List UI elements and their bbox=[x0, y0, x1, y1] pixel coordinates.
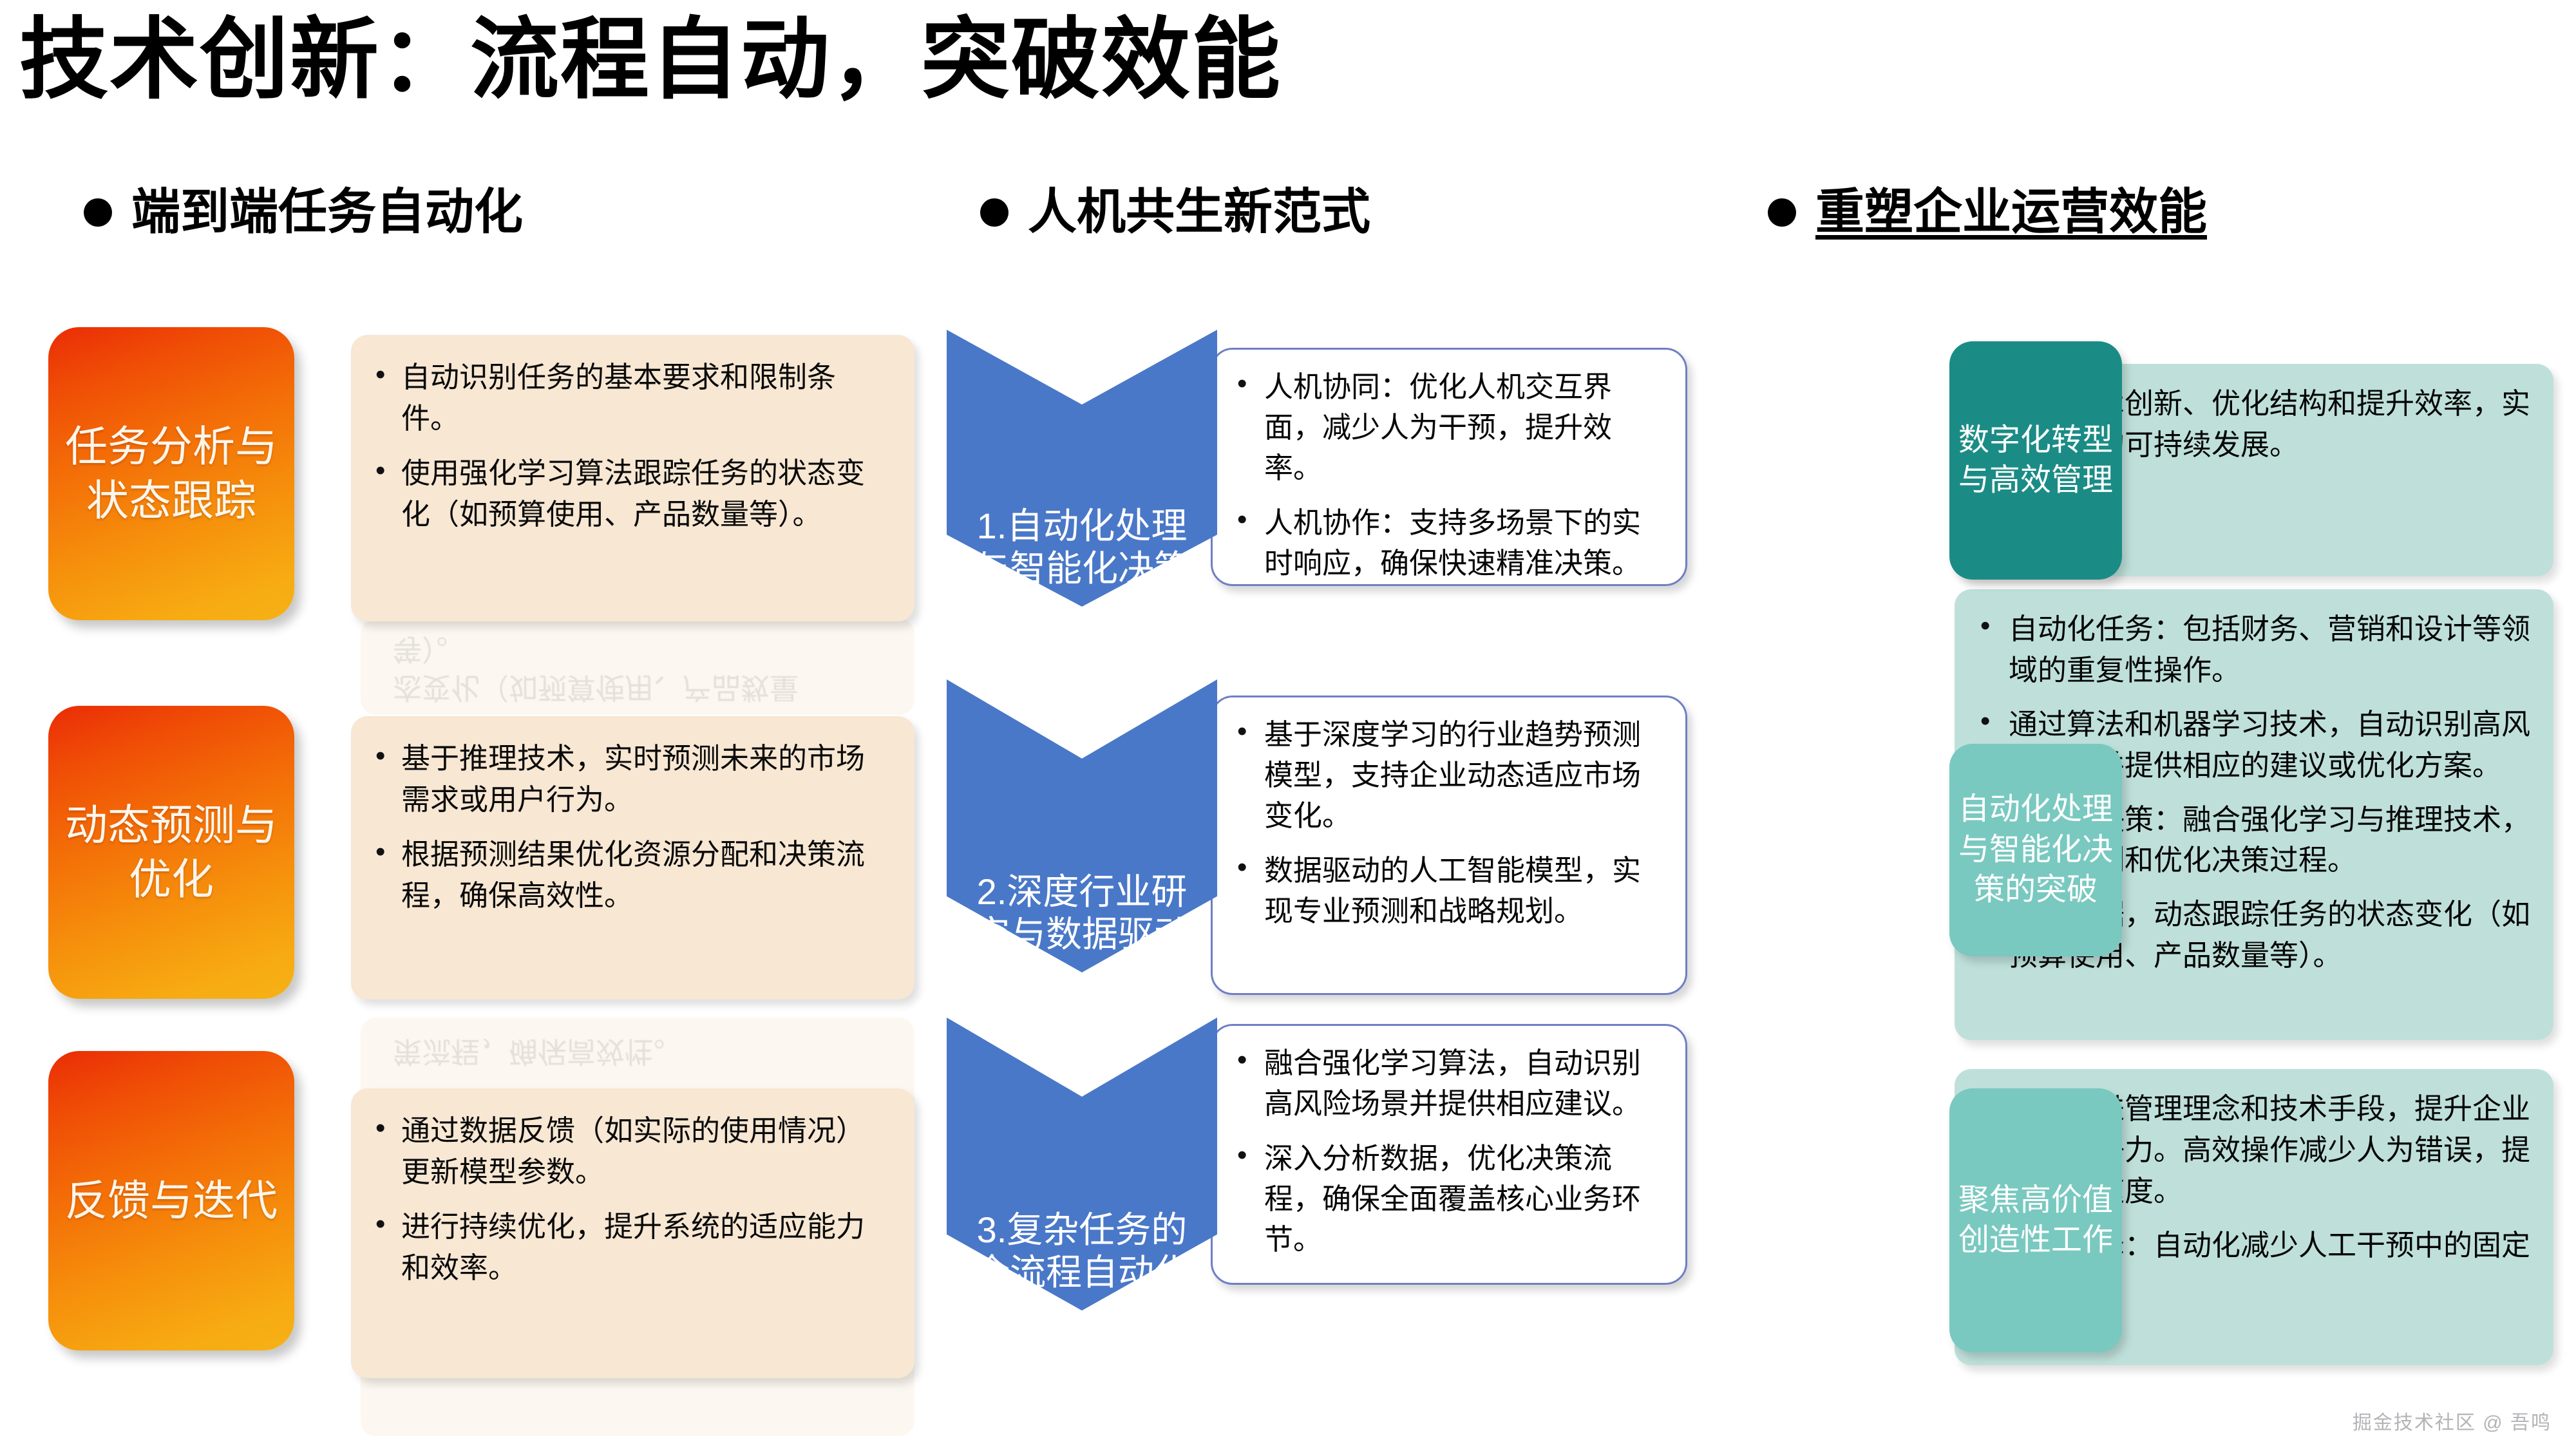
list-item: 通过数据反馈（如实际的使用情况）更新模型参数。 bbox=[401, 1110, 893, 1193]
list-item: 人机协同：优化人机交互界面，减少人为干预，提升效率。 bbox=[1264, 366, 1666, 488]
bullet-list: 通过数据反馈（如实际的使用情况）更新模型参数。 进行持续优化，提升系统的适应能力… bbox=[401, 1110, 893, 1289]
chevron-step-3[interactable]: 3.复杂任务的 全流程自动化 bbox=[947, 1018, 1217, 1311]
section-header-1: 端到端任务自动化 bbox=[84, 188, 523, 237]
list-item: 基于推理技术，实时预测未来的市场需求或用户行为。 bbox=[401, 738, 893, 821]
page-title: 技术创新：流程自动，突破效能 bbox=[19, 9, 1282, 111]
list-item: 自动识别任务的基本要求和限制条件。 bbox=[401, 357, 893, 440]
list-item: 使用强化学习算法跟踪任务的状态变化（如预算使用、产品数量等）。 bbox=[401, 453, 893, 536]
content-panel-orange-3: 通过数据反馈（如实际的使用情况）更新模型参数。 进行持续优化，提升系统的适应能力… bbox=[351, 1088, 914, 1378]
content-panel-orange-1: 自动识别任务的基本要求和限制条件。 使用强化学习算法跟踪任务的状态变化（如预算使… bbox=[351, 335, 914, 621]
bullet-list: 基于深度学习的行业趋势预测模型，支持企业动态适应市场变化。 数据驱动的人工智能模… bbox=[1264, 714, 1666, 931]
content-panel-blue-3: 融合强化学习算法，自动识别高风险场景并提供相应建议。 深入分析数据，优化决策流程… bbox=[1211, 1024, 1687, 1285]
stage-tab-dynamic-prediction[interactable]: 动态预测与优化 bbox=[48, 706, 294, 999]
bullet-list: 基于推理技术，实时预测未来的市场需求或用户行为。 根据预测结果优化资源分配和决策… bbox=[401, 738, 893, 916]
watermark: 掘金技术社区 @ 吾鸣 bbox=[2353, 1406, 2552, 1435]
list-item: 融合强化学习算法，自动识别高风险场景并提供相应建议。 bbox=[1264, 1043, 1666, 1124]
content-panel-blue-1: 人机协同：优化人机交互界面，减少人为干预，提升效率。 人机协作：支持多场景下的实… bbox=[1211, 348, 1687, 586]
chevron-step-1-label: 1.自动化处理 与智能化决策 bbox=[970, 505, 1194, 607]
bullet-list: 自动识别任务的基本要求和限制条件。 使用强化学习算法跟踪任务的状态变化（如预算使… bbox=[401, 357, 893, 535]
chevron-step-3-label: 3.复杂任务的 全流程自动化 bbox=[970, 1209, 1194, 1311]
filled-circle-bullet-icon bbox=[1768, 198, 1796, 227]
list-item: 根据预测结果优化资源分配和决策流程，确保高效性。 bbox=[401, 834, 893, 917]
stage-tab-feedback-iteration[interactable]: 反馈与迭代 bbox=[48, 1051, 294, 1350]
list-item: 数据驱动的人工智能模型，实现专业预测和战略规划。 bbox=[1264, 850, 1666, 931]
list-item: 基于深度学习的行业趋势预测模型，支持企业动态适应市场变化。 bbox=[1264, 714, 1666, 836]
slide-canvas: 技术创新：流程自动，突破效能 端到端任务自动化 人机共生新范式 重塑企业运营效能… bbox=[0, 0, 2576, 1449]
bullet-list: 人机协同：优化人机交互界面，减少人为干预，提升效率。 人机协作：支持多场景下的实… bbox=[1264, 366, 1666, 583]
list-item: 自动化任务：包括财务、营销和设计等领域的重复性操作。 bbox=[2009, 609, 2532, 691]
bullet-list: 融合强化学习算法，自动识别高风险场景并提供相应建议。 深入分析数据，优化决策流程… bbox=[1264, 1043, 1666, 1260]
section-label-3: 重塑企业运营效能 bbox=[1815, 188, 2207, 237]
section-header-2: 人机共生新范式 bbox=[980, 188, 1370, 237]
content-panel-orange-2: 基于推理技术，实时预测未来的市场需求或用户行为。 根据预测结果优化资源分配和决策… bbox=[351, 716, 914, 999]
section-header-3: 重塑企业运营效能 bbox=[1768, 188, 2207, 237]
section-label-1: 端到端任务自动化 bbox=[131, 188, 523, 237]
filled-circle-bullet-icon bbox=[980, 198, 1009, 227]
chevron-step-1[interactable]: 1.自动化处理 与智能化决策 bbox=[947, 330, 1217, 607]
outcome-tab-high-value-work[interactable]: 聚焦高价值创造性工作 bbox=[1949, 1088, 2122, 1352]
chevron-step-2-label: 2.深度行业研 究与数据驱动 bbox=[970, 871, 1194, 972]
ghost-plate bbox=[361, 618, 914, 715]
list-item: 深入分析数据，优化决策流程，确保全面覆盖核心业务环节。 bbox=[1264, 1138, 1666, 1260]
content-panel-blue-2: 基于深度学习的行业趋势预测模型，支持企业动态适应市场变化。 数据驱动的人工智能模… bbox=[1211, 696, 1687, 995]
filled-circle-bullet-icon bbox=[84, 198, 112, 227]
stage-tab-task-analysis[interactable]: 任务分析与状态跟踪 bbox=[48, 327, 294, 620]
outcome-tab-digital-transformation[interactable]: 数字化转型与高效管理 bbox=[1949, 341, 2122, 580]
list-item: 人机协作：支持多场景下的实时响应，确保快速精准决策。 bbox=[1264, 502, 1666, 583]
section-label-2: 人机共生新范式 bbox=[1028, 188, 1370, 237]
outcome-tab-automation-breakthrough[interactable]: 自动化处理与智能化决策的突破 bbox=[1949, 744, 2122, 956]
chevron-step-2[interactable]: 2.深度行业研 究与数据驱动 bbox=[947, 679, 1217, 972]
list-item: 进行持续优化，提升系统的适应能力和效率。 bbox=[401, 1206, 893, 1289]
